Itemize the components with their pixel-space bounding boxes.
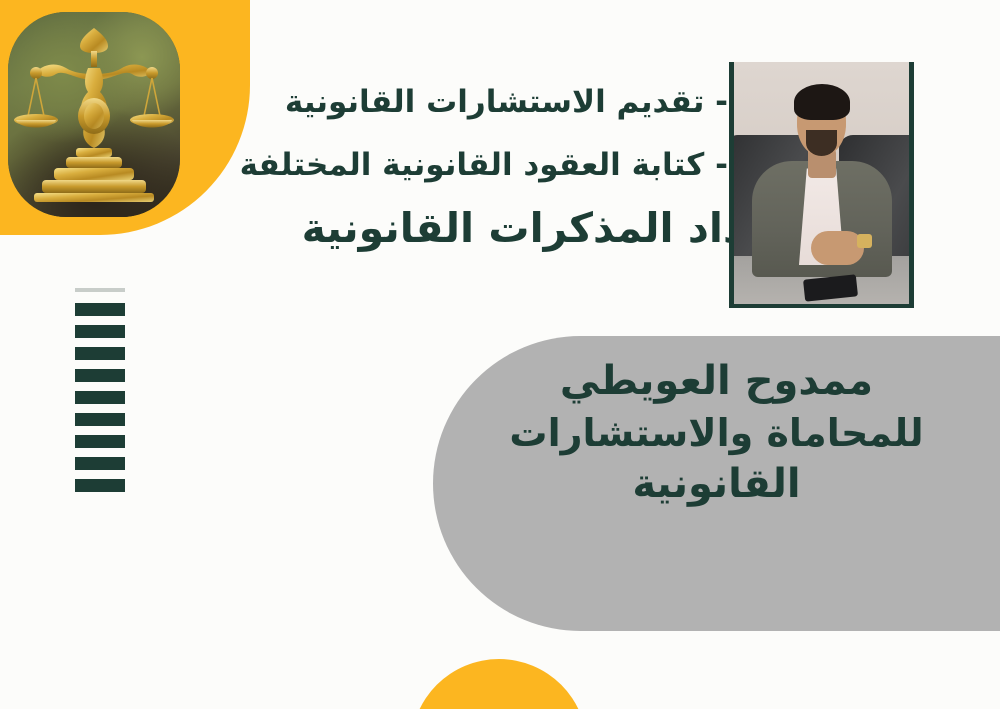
scales-icon — [14, 20, 174, 210]
stripe-bar-ghost — [75, 288, 125, 292]
service-item-contract-drafting: - كتابة العقود القانونية المختلفة — [188, 149, 728, 182]
services-list: - تقديم الاستشارات القانونية - كتابة الع… — [188, 86, 728, 250]
portrait-watch — [857, 234, 873, 249]
portrait-hands — [811, 231, 864, 265]
service-item-legal-consultations: - تقديم الاستشارات القانونية — [188, 86, 728, 119]
stripe-bar — [75, 457, 125, 470]
stripe-bar — [75, 369, 125, 382]
firm-name-text: ممدوح العويطي للمحاماة والاستشارات القان… — [449, 355, 984, 511]
stripe-bar — [75, 413, 125, 426]
firm-name-line-3: القانونية — [449, 458, 984, 511]
portrait-content — [734, 62, 909, 304]
stripe-decoration — [75, 288, 125, 492]
poster-canvas: - تقديم الاستشارات القانونية - كتابة الع… — [0, 0, 1000, 709]
stripe-bar — [75, 479, 125, 492]
service-item-legal-memoranda: - اعداد المذكرات القانونية — [188, 207, 820, 250]
stripe-bar — [75, 347, 125, 360]
lawyer-portrait-photo — [729, 62, 914, 308]
stripe-bar — [75, 435, 125, 448]
orange-arc-decoration — [411, 659, 587, 709]
stripe-bar — [75, 325, 125, 338]
firm-name-line-1: ممدوح العويطي — [449, 355, 984, 408]
firm-name-line-2: للمحاماة والاستشارات — [449, 408, 984, 458]
stripe-bar — [75, 391, 125, 404]
portrait-hair — [794, 84, 850, 120]
stripe-bar — [75, 303, 125, 316]
scales-of-justice-image — [8, 12, 180, 217]
